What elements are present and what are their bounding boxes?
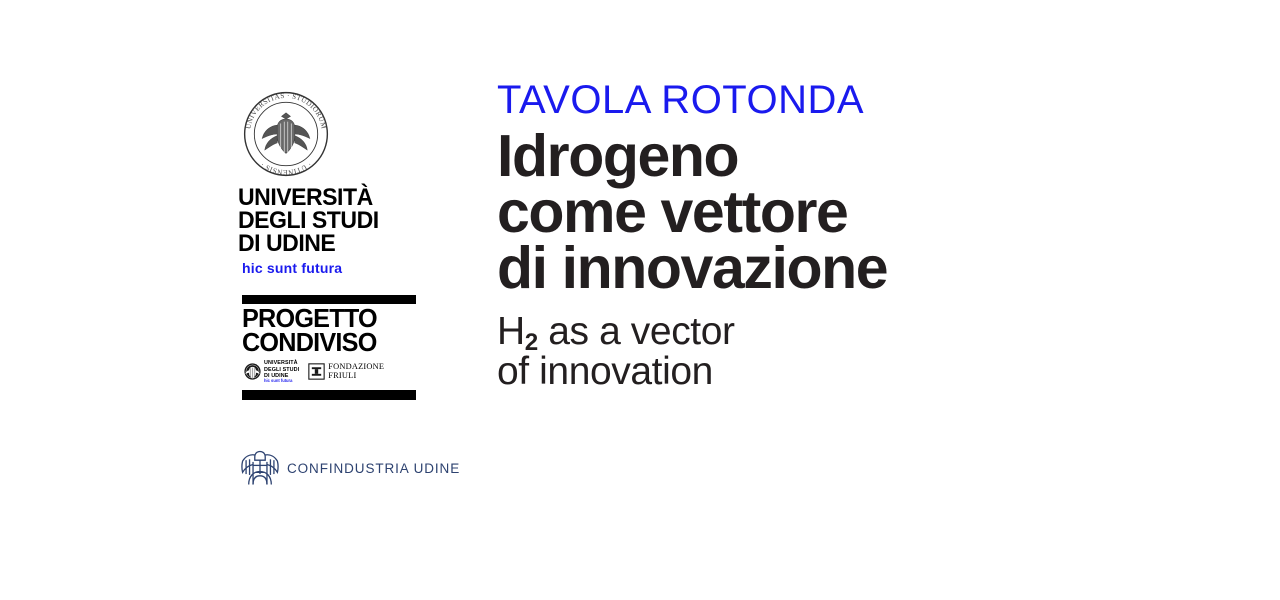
partner-foundation-line-2: FRIULI <box>328 372 384 381</box>
university-name-line-1: UNIVERSITÀ <box>238 186 430 209</box>
title-block: TAVOLA ROTONDA Idrogeno come vettore di … <box>497 80 1197 393</box>
confindustria-udine-logo: CONFINDUSTRIA UDINE <box>238 448 460 488</box>
progetto-condiviso-logo: PROGETTO CONDIVISO UNIVERSITÀ DEGLI STU <box>242 295 416 400</box>
svg-text:· UTINENSIS ·: · UTINENSIS · <box>259 160 313 176</box>
subheadline-line-2: of innovation <box>497 352 1197 392</box>
progetto-bottom-rule <box>242 390 416 400</box>
progetto-word-2: CONDIVISO <box>242 331 411 355</box>
university-seal-icon: UNIVERSITAS · STUDIORUM · UTINENSIS · <box>242 90 330 178</box>
progetto-partner-logos: UNIVERSITÀ DEGLI STUDI DI UDINE hic sunt… <box>244 359 416 385</box>
university-tagline: hic sunt futura <box>242 260 438 276</box>
fondazione-friuli-mark-icon <box>308 363 325 380</box>
progetto-wordmark: PROGETTO CONDIVISO <box>242 307 411 355</box>
partner-university-text: UNIVERSITÀ DEGLI STUDI DI UDINE hic sunt… <box>264 360 299 383</box>
partner-foundation-text: FONDAZIONE FRIULI <box>328 363 384 381</box>
partner-university-seal-icon <box>244 363 261 380</box>
university-name-line-3: DI UDINE <box>238 232 430 255</box>
headline-line-1: Idrogeno <box>497 129 1197 185</box>
headline-line-3: di innovazione <box>497 241 1197 297</box>
event-headline: Idrogeno come vettore di innovazione <box>497 129 1197 296</box>
event-subheadline: H2 as a vector of innovation <box>497 312 1197 392</box>
confindustria-eagle-icon <box>238 448 282 488</box>
university-of-udine-logo: UNIVERSITAS · STUDIORUM · UTINENSIS · <box>238 90 438 276</box>
partner-university-tagline: hic sunt futura <box>264 379 299 384</box>
partner-university-logo: UNIVERSITÀ DEGLI STUDI DI UDINE hic sunt… <box>244 360 299 383</box>
subheadline-line-1-rest: as a vector <box>538 310 735 353</box>
logo-column: UNIVERSITAS · STUDIORUM · UTINENSIS · <box>238 90 438 276</box>
subheadline-formula-subscript: 2 <box>525 329 538 356</box>
university-name-line-2: DEGLI STUDI <box>238 209 430 232</box>
university-name: UNIVERSITÀ DEGLI STUDI DI UDINE <box>238 186 430 255</box>
confindustria-label: CONFINDUSTRIA UDINE <box>287 461 460 476</box>
event-kicker: TAVOLA ROTONDA <box>497 80 1197 120</box>
headline-line-2: come vettore <box>497 185 1197 241</box>
partner-foundation-logo: FONDAZIONE FRIULI <box>308 363 384 381</box>
subheadline-formula-h: H <box>497 310 525 353</box>
subheadline-line-1: H2 as a vector <box>497 312 1197 352</box>
